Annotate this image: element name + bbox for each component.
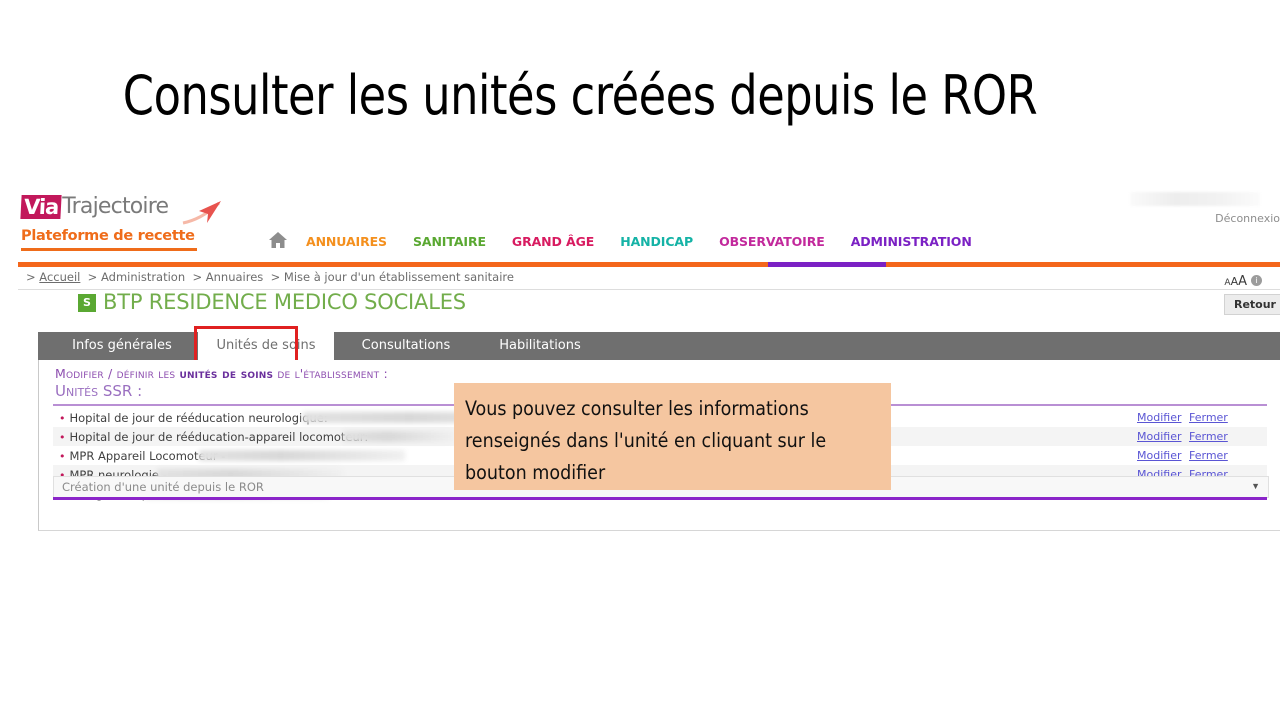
nav-item-handicap[interactable]: HANDICAP xyxy=(620,234,693,249)
nav-item-sanitaire[interactable]: SANITAIRE xyxy=(413,234,486,249)
tab-infos-generales[interactable]: Infos générales xyxy=(54,332,190,360)
nav-item-grand-age[interactable]: GRAND ÂGE xyxy=(512,234,594,249)
viatrajectoire-logo[interactable]: ViaTrajectoire xyxy=(21,195,221,229)
breadcrumb-item-annuaires[interactable]: Annuaires xyxy=(206,270,264,284)
home-icon[interactable] xyxy=(268,230,288,250)
unit-edit-link[interactable]: Modifier xyxy=(1137,411,1181,424)
section-heading-bold: unités de soins xyxy=(179,366,273,381)
establishment-header: SBTP RESIDENCE MEDICO SOCIALES xyxy=(78,290,466,316)
breadcrumb-item-administration[interactable]: Administration xyxy=(101,270,185,284)
chevron-down-icon: ▼ xyxy=(1251,481,1260,491)
ror-select-underline xyxy=(53,497,1267,500)
nav-item-annuaires[interactable]: ANNUAIRES xyxy=(306,234,387,249)
user-account-redacted xyxy=(1130,192,1260,206)
bullet-icon: • xyxy=(59,412,66,425)
nav-item-observatoire[interactable]: OBSERVATOIRE xyxy=(719,234,825,249)
section-heading: Modifier / définir les unités de soins d… xyxy=(55,366,388,381)
establishment-name: BTP RESIDENCE MEDICO SOCIALES xyxy=(103,290,466,314)
tab-habilitations[interactable]: Habilitations xyxy=(478,332,602,360)
panel-footer xyxy=(38,510,1280,531)
logo-trajectoire-text: Trajectoire xyxy=(62,195,168,219)
logout-link[interactable]: Déconnexio xyxy=(1215,212,1280,225)
unit-edit-link[interactable]: Modifier xyxy=(1137,430,1181,443)
platform-label: Plateforme de recette xyxy=(21,228,195,244)
tab-bar: Infos générales Unités de soins Consulta… xyxy=(38,332,1280,360)
tab-unites-de-soins[interactable]: Unités de soins xyxy=(198,332,334,360)
arrow-icon xyxy=(181,199,223,225)
back-button[interactable]: Retour xyxy=(1224,294,1280,315)
info-icon[interactable]: i xyxy=(1251,275,1262,286)
ror-select-value: Création d'une unité depuis le ROR xyxy=(62,480,264,494)
logo-via-text: Via xyxy=(20,195,62,219)
section-heading-prefix: Modifier / définir les xyxy=(55,366,179,381)
unit-edit-link[interactable]: Modifier xyxy=(1137,449,1181,462)
tab-consultations[interactable]: Consultations xyxy=(344,332,468,360)
unit-name: •Hopital de jour de rééducation neurolog… xyxy=(59,411,328,425)
breadcrumb-item-accueil[interactable]: Accueil xyxy=(39,270,80,284)
unit-close-link[interactable]: Fermer xyxy=(1189,411,1228,424)
font-size-widget: AAAi xyxy=(1224,270,1262,289)
bullet-icon: • xyxy=(59,431,66,444)
section-heading-suffix: de l'établissement : xyxy=(273,366,388,381)
unit-value-redacted xyxy=(343,431,455,442)
bullet-icon: • xyxy=(59,450,66,463)
unit-close-link[interactable]: Fermer xyxy=(1189,449,1228,462)
annotation-callout-text: Vous pouvez consulter les informations r… xyxy=(465,393,875,489)
platform-underline xyxy=(21,248,197,251)
font-size-large-button[interactable]: A xyxy=(1238,274,1247,289)
breadcrumb-item-current: Mise à jour d'un établissement sanitaire xyxy=(284,270,514,284)
unit-name: •Hopital de jour de rééducation-appareil… xyxy=(59,430,368,444)
establishment-type-badge: S xyxy=(78,294,96,312)
page-title: Consulter les unités créées depuis le RO… xyxy=(46,64,1113,127)
breadcrumb: > Accueil > Administration > Annuaires >… xyxy=(26,270,514,284)
font-size-medium-button[interactable]: A xyxy=(1231,275,1239,288)
nav-item-administration[interactable]: ADMINISTRATION xyxy=(851,234,972,249)
site-header: ViaTrajectoire Plateforme de recette ANN… xyxy=(18,190,1280,266)
section-subheading: Unités SSR : xyxy=(55,382,142,400)
breadcrumb-bar: > Accueil > Administration > Annuaires >… xyxy=(18,267,1280,290)
unit-value-redacted xyxy=(199,450,405,461)
unit-close-link[interactable]: Fermer xyxy=(1189,430,1228,443)
main-navigation: ANNUAIRESSANITAIREGRAND ÂGEHANDICAPOBSER… xyxy=(306,233,998,251)
annotation-callout: Vous pouvez consulter les informations r… xyxy=(454,383,891,490)
